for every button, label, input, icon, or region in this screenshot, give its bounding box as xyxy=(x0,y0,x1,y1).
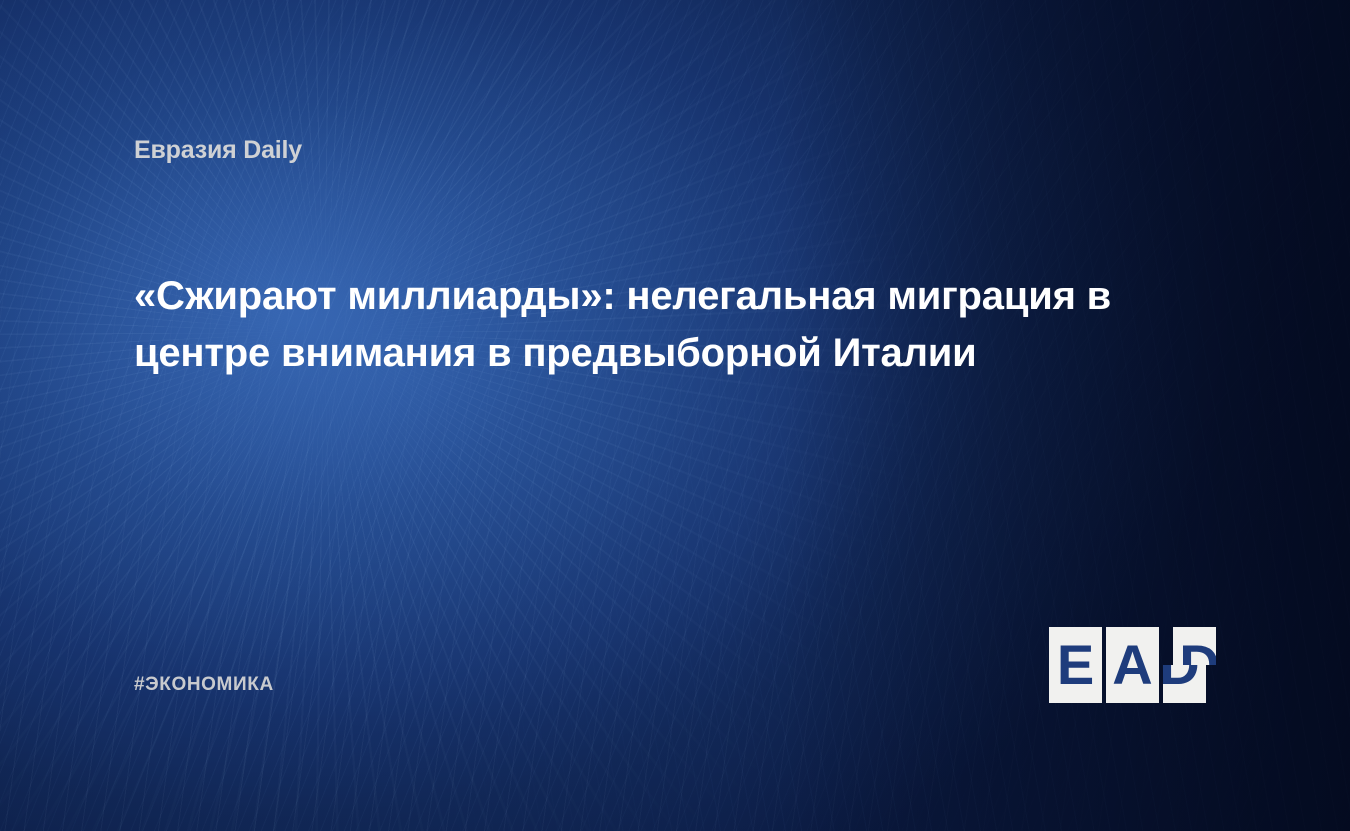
logo-letter-d-bottom-half: D xyxy=(1163,665,1206,703)
logo-letter-d-top-half: D xyxy=(1173,627,1216,665)
article-headline: «Сжирают миллиарды»: нелегальная миграци… xyxy=(134,268,1194,382)
logo-letter-d-lower: D xyxy=(1163,665,1206,703)
category-tag: #ЭКОНОМИКА xyxy=(134,674,274,696)
site-name: Евразия Daily xyxy=(134,136,302,165)
logo-tile-d-split: D D xyxy=(1163,627,1216,703)
ead-logo: E A D D xyxy=(1049,627,1216,703)
logo-tile-e: E xyxy=(1049,627,1102,703)
article-cover-card: Евразия Daily «Сжирают миллиарды»: нелег… xyxy=(0,0,1350,831)
logo-letter-e: E xyxy=(1049,627,1102,703)
cover-content: Евразия Daily «Сжирают миллиарды»: нелег… xyxy=(0,0,1350,831)
logo-letter-d-upper: D xyxy=(1173,627,1216,665)
logo-tile-a: A xyxy=(1106,627,1159,703)
logo-letter-a: A xyxy=(1106,627,1159,703)
